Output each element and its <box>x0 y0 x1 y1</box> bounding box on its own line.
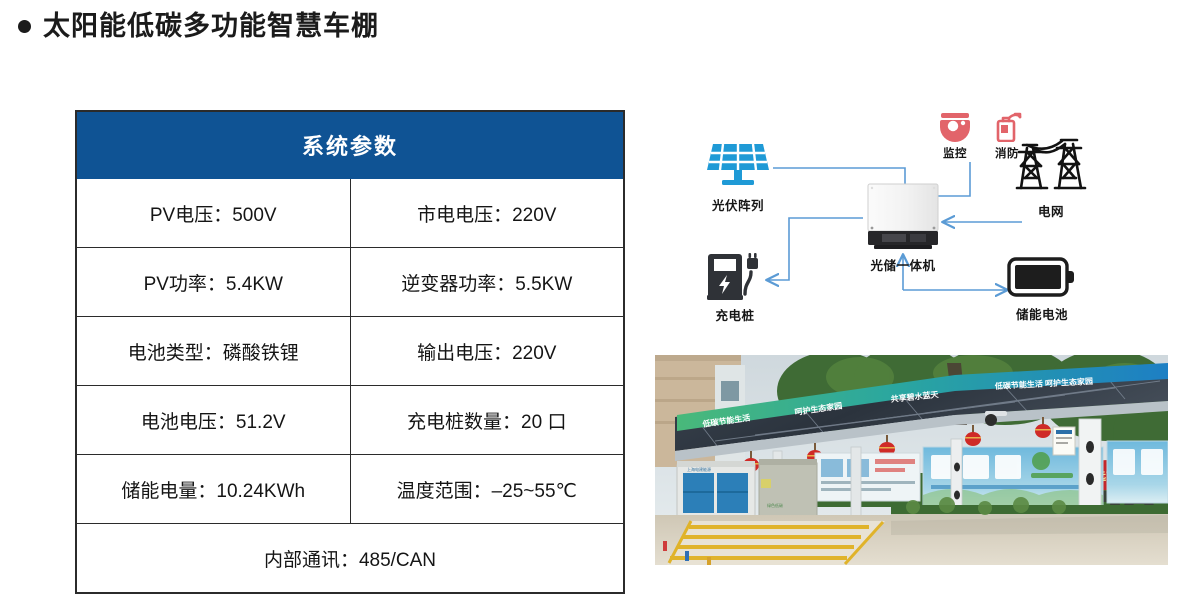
inverter-cabinet-icon <box>860 182 946 252</box>
charging-pile-icon <box>705 250 765 302</box>
system-architecture-diagram: 光伏阵列 监控 消防 <box>655 100 1170 350</box>
system-parameter-table: 系统参数 PV电压：500V 市电电压：220V PV功率：5.4KW 逆变器功… <box>75 110 625 594</box>
table-row: 电池电压：51.2V 充电桩数量：20 口 <box>76 386 624 455</box>
table-header-title: 系统参数 <box>76 111 624 179</box>
cell-storage-capacity: 储能电量：10.24KWh <box>76 455 350 524</box>
diagram-node-charging-pile: 充电桩 <box>705 250 765 324</box>
svg-text:绿色低碳: 绿色低碳 <box>767 502 783 508</box>
cell-pv-power: PV功率：5.4KW <box>76 248 350 317</box>
diagram-label-pv-array: 光伏阵列 <box>712 195 764 214</box>
cell-inverter-power: 逆变器功率：5.5KW <box>350 248 624 317</box>
cell-battery-voltage: 电池电压：51.2V <box>76 386 350 455</box>
table-row: 电池类型：磷酸铁锂 输出电压：220V <box>76 317 624 386</box>
cell-temp-range: 温度范围：–25~55℃ <box>350 455 624 524</box>
diagram-node-power-grid: 电网 <box>1015 136 1087 220</box>
table-header-row: 系统参数 <box>76 111 624 179</box>
diagram-node-monitoring: 监控 <box>938 112 972 161</box>
table-row: 内部通讯：485/CAN <box>76 524 624 594</box>
table-row: PV功率：5.4KW 逆变器功率：5.5KW <box>76 248 624 317</box>
diagram-label-monitoring: 监控 <box>943 145 967 161</box>
transmission-tower-icon <box>1015 136 1087 198</box>
carport-photo-illustration: 远离邪 低碳节能生活 呵护生态家园 <box>655 355 1168 565</box>
page-title: 太阳能低碳多功能智慧车棚 <box>43 12 379 42</box>
diagram-label-charging-pile: 充电桩 <box>715 305 754 324</box>
diagram-node-pv-array: 光伏阵列 <box>703 140 773 214</box>
solar-panel-icon <box>703 140 773 192</box>
cell-internal-comm: 内部通讯：485/CAN <box>76 524 624 594</box>
page-title-block: 太阳能低碳多功能智慧车棚 <box>18 12 379 42</box>
surveillance-camera-icon <box>938 112 972 142</box>
cell-grid-voltage: 市电电压：220V <box>350 179 624 248</box>
solar-carport-photo: 远离邪 低碳节能生活 呵护生态家园 <box>655 355 1168 565</box>
cell-output-voltage: 输出电压：220V <box>350 317 624 386</box>
cell-pv-voltage: PV电压：500V <box>76 179 350 248</box>
diagram-label-power-grid: 电网 <box>1038 201 1064 220</box>
storage-battery-icon <box>1007 255 1077 301</box>
bullet-dot-icon <box>18 20 31 33</box>
diagram-label-inverter: 光储一体机 <box>870 255 935 274</box>
diagram-label-storage-battery: 储能电池 <box>1016 304 1068 323</box>
cell-battery-type: 电池类型：磷酸铁锂 <box>76 317 350 386</box>
cell-charger-count: 充电桩数量：20 口 <box>350 386 624 455</box>
table-row: PV电压：500V 市电电压：220V <box>76 179 624 248</box>
diagram-node-inverter: 光储一体机 <box>860 182 946 274</box>
svg-text:上海电建能源: 上海电建能源 <box>687 466 711 472</box>
table-row: 储能电量：10.24KWh 温度范围：–25~55℃ <box>76 455 624 524</box>
diagram-node-storage-battery: 储能电池 <box>1007 255 1077 323</box>
